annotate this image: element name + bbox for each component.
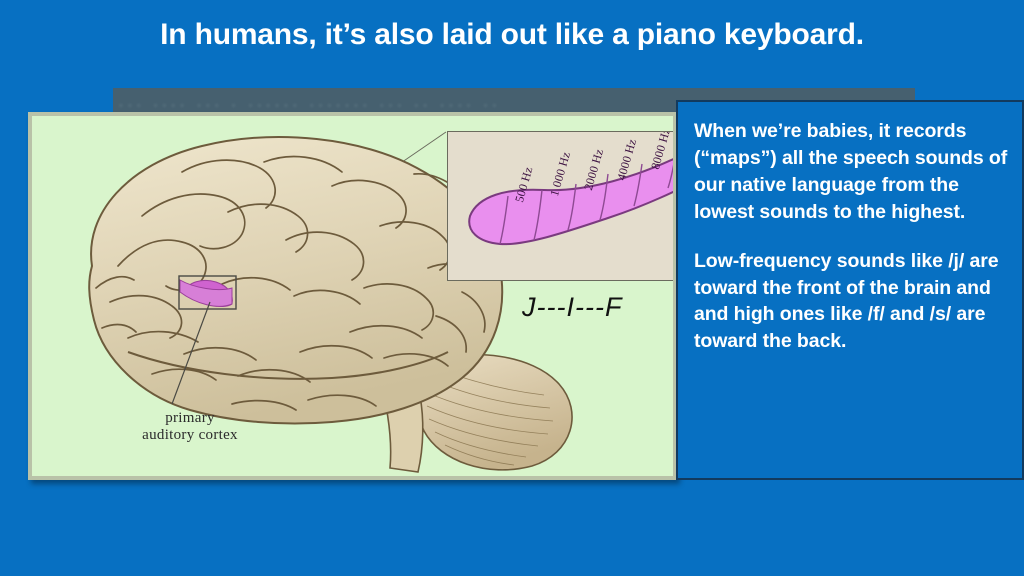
slide-canvas: In humans, it’s also laid out like a pia…	[0, 0, 1024, 576]
brain-figure: primary auditory cortex 500 Hz	[28, 112, 677, 480]
background-band-text: ••• •••• ••• • •••••• ••••••• ••• •• •••…	[119, 100, 501, 112]
pac-label-line1: primary	[110, 410, 270, 427]
primary-auditory-cortex-label: primary auditory cortex	[110, 410, 270, 444]
jif-annotation: J---I---F	[522, 292, 622, 323]
tonotopic-inset: 500 Hz 1 000 Hz 2000 Hz 4000 Hz 8000 Hz …	[447, 131, 677, 281]
slide-title: In humans, it’s also laid out like a pia…	[0, 18, 1024, 51]
explanation-text-panel: When we’re babies, it records (“maps”) a…	[676, 100, 1024, 480]
explanation-paragraph-2: Low-frequency sounds like /j/ are toward…	[694, 248, 1008, 356]
explanation-paragraph-1: When we’re babies, it records (“maps”) a…	[694, 118, 1008, 226]
brain-figure-inner: primary auditory cortex 500 Hz	[32, 116, 673, 476]
pac-label-line2: auditory cortex	[110, 427, 270, 444]
